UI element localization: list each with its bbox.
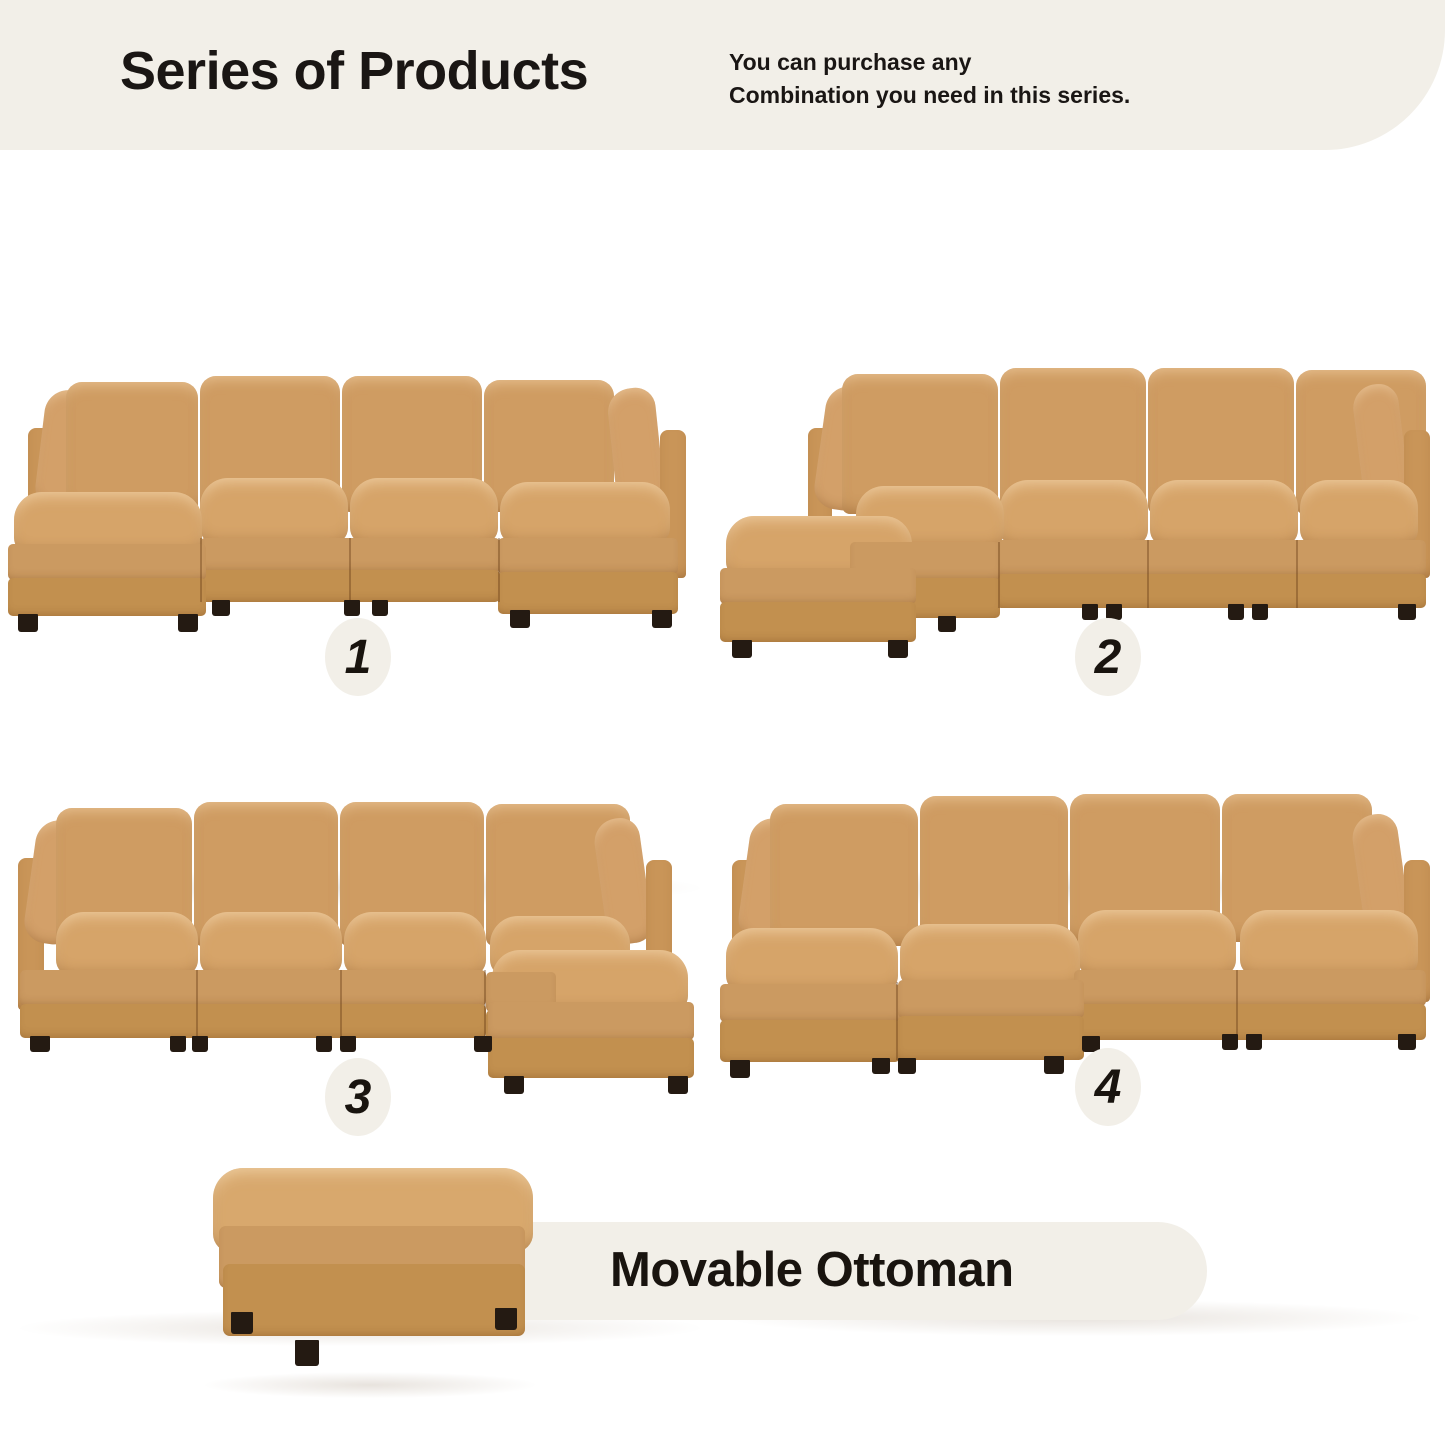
sofa-leg [1398,1034,1416,1050]
chaise-base-right-lower [498,572,678,614]
combination-badge-2: 2 [1075,618,1141,696]
module-seam [498,538,500,602]
chaise-base-right-lower [488,1038,694,1078]
combination-badge-1: 1 [325,618,391,696]
combination-3[interactable]: 3 [0,760,720,1070]
ottoman-cushion [900,924,1080,988]
seat-cushion [200,912,342,976]
sofa-leg [898,1058,916,1074]
sofa-leg [730,1060,750,1078]
header-subtitle: You can purchase any Combination you nee… [729,46,1130,113]
module-seam [1147,540,1149,608]
sofa-illustration-2 [710,330,1445,630]
sofa-leg [316,1036,332,1052]
sofa-leg [212,600,230,616]
seat-cushion [1150,480,1298,546]
sofa-leg [1044,1056,1064,1074]
sofa-leg [504,1076,524,1094]
header-subtitle-line-2: Combination you need in this series. [729,79,1130,112]
sofa-leg [938,616,956,632]
seat-cushion [344,912,486,976]
chaise-cushion-right [500,482,670,544]
ottoman-callout-label: Movable Ottoman [610,1242,1014,1298]
module-seam [340,970,342,1038]
module-seam [1296,540,1298,608]
seat-cushion [350,478,498,544]
seat-base-lower [996,574,1426,608]
sofa-leg [1398,604,1416,620]
ottoman-base [898,980,1084,1018]
sofa-leg [344,600,360,616]
sofa-leg [18,614,38,632]
sofa-leg [1222,1034,1238,1050]
sofa-leg [1082,604,1098,620]
back-cushion [770,804,918,946]
ottoman-cushion [726,928,898,992]
sofa-leg [888,640,908,658]
module-seam [196,970,198,1038]
module-seam [998,542,1000,608]
seat-cushion [56,912,198,976]
page-title: Series of Products [120,40,588,102]
ottoman-leg [495,1308,517,1330]
module-seam [200,538,202,602]
seat-base [1074,970,1426,1006]
sofa-illustration-1 [0,330,720,630]
back-cushion [920,796,1068,944]
header-subtitle-line-1: You can purchase any [729,46,1130,79]
seat-cushion [1000,480,1148,546]
ottoman-leg [295,1340,319,1366]
sofa-illustration-3 [0,760,720,1070]
sofa-leg [178,614,198,632]
combination-1[interactable]: 1 [0,330,720,630]
sofa-leg [192,1036,208,1052]
chaise-base-right [488,1002,694,1040]
combination-4[interactable]: 4 [710,760,1445,1060]
sofa-leg [340,1036,356,1052]
sofa-leg [30,1036,50,1052]
ottoman-base-lower [223,1264,525,1336]
floor-shadow [205,1372,535,1398]
chaise-base-right [498,538,678,574]
seat-cushion [200,478,348,544]
combination-2[interactable]: 2 [710,330,1445,630]
sofa-leg [474,1036,492,1052]
ottoman-illustration [195,1160,555,1410]
sofa-leg [372,600,388,616]
seat-base [20,970,486,1006]
ottoman-base [720,984,900,1022]
seat-base [996,540,1426,576]
sofa-leg [1228,604,1244,620]
chaise-base-left-lower [720,602,916,642]
seat-cushion [1240,910,1418,976]
seat-cushion [1300,480,1418,546]
sofa-leg [1246,1034,1262,1050]
seat-cushion [1078,910,1236,976]
chaise-base-left [720,568,916,604]
ottoman-leg [231,1312,253,1334]
module-seam [896,982,898,1060]
combination-badge-4: 4 [1075,1048,1141,1126]
chaise-base-left-lower [8,578,206,616]
sofa-leg [652,610,672,628]
sofa-leg [170,1036,186,1052]
sofa-leg [510,610,530,628]
sofa-leg [872,1058,890,1074]
sofa-leg [668,1076,688,1094]
module-seam [349,538,351,602]
combination-badge-3: 3 [325,1058,391,1136]
seat-base-lower [20,1004,486,1038]
sofa-leg [1252,604,1268,620]
sofa-leg [732,640,752,658]
module-seam [1236,970,1238,1040]
ottoman-base-lower [720,1020,900,1062]
ottoman-base-lower [898,1016,1084,1060]
module-seam [484,970,486,1038]
chaise-base-left [8,544,206,580]
sofa-illustration-4 [710,760,1445,1060]
